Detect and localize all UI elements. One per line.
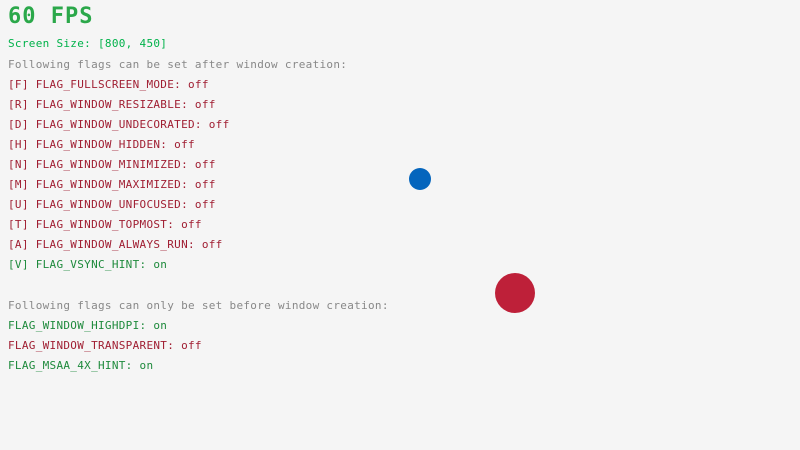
flag-row[interactable]: [H] FLAG_WINDOW_HIDDEN: off	[8, 138, 508, 158]
flag-row[interactable]: [T] FLAG_WINDOW_TOPMOST: off	[8, 218, 508, 238]
flag-row[interactable]: [D] FLAG_WINDOW_UNDECORATED: off	[8, 118, 508, 138]
flag-row[interactable]: FLAG_MSAA_4X_HINT: on	[8, 359, 508, 379]
flag-row[interactable]: [U] FLAG_WINDOW_UNFOCUSED: off	[8, 198, 508, 218]
section-heading-before-creation: Following flags can only be set before w…	[8, 299, 389, 312]
flag-row[interactable]: [V] FLAG_VSYNC_HINT: on	[8, 258, 508, 278]
flag-row[interactable]: [A] FLAG_WINDOW_ALWAYS_RUN: off	[8, 238, 508, 258]
flag-row[interactable]: FLAG_WINDOW_HIGHDPI: on	[8, 319, 508, 339]
flag-list-before-creation: FLAG_WINDOW_HIGHDPI: onFLAG_WINDOW_TRANS…	[8, 319, 508, 379]
flag-row[interactable]: [M] FLAG_WINDOW_MAXIMIZED: off	[8, 178, 508, 198]
bouncing-ball-blue	[409, 168, 431, 190]
flag-list-after-creation: [F] FLAG_FULLSCREEN_MODE: off[R] FLAG_WI…	[8, 78, 508, 278]
flag-row[interactable]: [N] FLAG_WINDOW_MINIMIZED: off	[8, 158, 508, 178]
flag-row[interactable]: [R] FLAG_WINDOW_RESIZABLE: off	[8, 98, 508, 118]
flag-row[interactable]: FLAG_WINDOW_TRANSPARENT: off	[8, 339, 508, 359]
flag-row[interactable]: [F] FLAG_FULLSCREEN_MODE: off	[8, 78, 508, 98]
fps-counter: 60 FPS	[8, 4, 93, 30]
section-heading-after-creation: Following flags can be set after window …	[8, 58, 347, 71]
screen-size-readout: Screen Size: [800, 450]	[8, 37, 167, 50]
bouncing-ball-red	[495, 273, 535, 313]
app-window: 60 FPS Screen Size: [800, 450] Following…	[0, 0, 800, 450]
